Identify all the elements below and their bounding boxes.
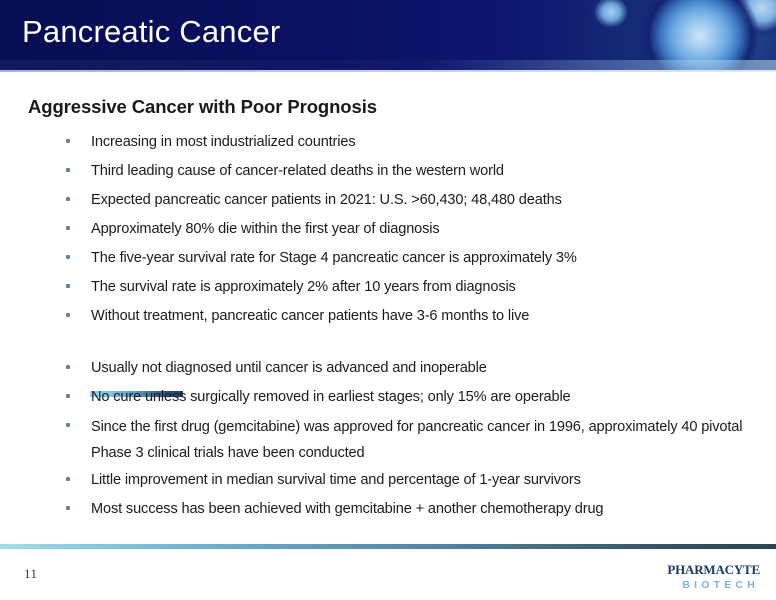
list-item-label: The survival rate is approximately 2% af… <box>91 273 516 302</box>
slide-header: Pancreatic Cancer <box>0 0 776 70</box>
list-item: Without treatment, pancreatic cancer pat… <box>0 302 776 331</box>
bullet-dot-icon <box>66 284 70 288</box>
bullet-dot-icon <box>66 139 70 143</box>
bullet-dot-icon <box>66 313 70 317</box>
bullet-dot-icon <box>66 394 70 398</box>
list-item-label: Usually not diagnosed until cancer is ad… <box>91 354 487 383</box>
list-item: Increasing in most industrialized countr… <box>0 128 776 157</box>
list-item: Approximately 80% die within the first y… <box>0 215 776 244</box>
list-item: The survival rate is approximately 2% af… <box>0 273 776 302</box>
bullet-dot-icon <box>66 255 70 259</box>
list-item-label: Increasing in most industrialized countr… <box>91 128 355 157</box>
list-item-label: Since the first drug (gemcitabine) was a… <box>91 412 776 466</box>
list-item: Usually not diagnosed until cancer is ad… <box>0 354 776 383</box>
footer-divider <box>0 544 776 549</box>
list-item: Expected pancreatic cancer patients in 2… <box>0 186 776 215</box>
bullet-dot-icon <box>66 197 70 201</box>
list-item-label: Most success has been achieved with gemc… <box>91 495 603 524</box>
list-item: Third leading cause of cancer-related de… <box>0 157 776 186</box>
list-item: Little improvement in median survival ti… <box>0 466 776 495</box>
section-heading: Aggressive Cancer with Poor Prognosis <box>28 96 377 118</box>
logo-wordmark: PharmaCyte <box>632 559 760 579</box>
slide-title: Pancreatic Cancer <box>22 13 280 51</box>
header-underline <box>0 70 776 72</box>
list-item-label: Third leading cause of cancer-related de… <box>91 157 504 186</box>
bullet-dot-icon <box>66 365 70 369</box>
header-sheen-decoration <box>0 60 776 70</box>
bullet-dot-icon <box>66 226 70 230</box>
bullet-dot-icon <box>66 168 70 172</box>
list-item-label: No cure unless surgically removed in ear… <box>91 383 571 412</box>
bullet-dot-icon <box>66 477 70 481</box>
list-item-label: Little improvement in median survival ti… <box>91 466 581 495</box>
bullet-dot-icon <box>66 506 70 510</box>
slide-root: Pancreatic Cancer Aggressive Cancer with… <box>0 0 776 600</box>
list-item-label: The five-year survival rate for Stage 4 … <box>91 244 577 273</box>
bullet-group-primary: Increasing in most industrialized countr… <box>0 128 776 331</box>
list-item: No cure unless surgically removed in ear… <box>0 383 776 412</box>
list-item-label: Approximately 80% die within the first y… <box>91 215 440 244</box>
bullet-dot-icon <box>66 423 70 427</box>
list-item-label: Expected pancreatic cancer patients in 2… <box>91 186 562 215</box>
page-number: 11 <box>24 566 38 582</box>
list-item: The five-year survival rate for Stage 4 … <box>0 244 776 273</box>
logo-tagline: BIOTECH <box>632 579 760 592</box>
list-item-label: Without treatment, pancreatic cancer pat… <box>91 302 529 331</box>
company-logo: PharmaCyte BIOTECH <box>632 559 760 592</box>
list-item: Most success has been achieved with gemc… <box>0 495 776 524</box>
bullet-group-secondary: Usually not diagnosed until cancer is ad… <box>0 354 776 524</box>
list-item: Since the first drug (gemcitabine) was a… <box>0 412 776 466</box>
